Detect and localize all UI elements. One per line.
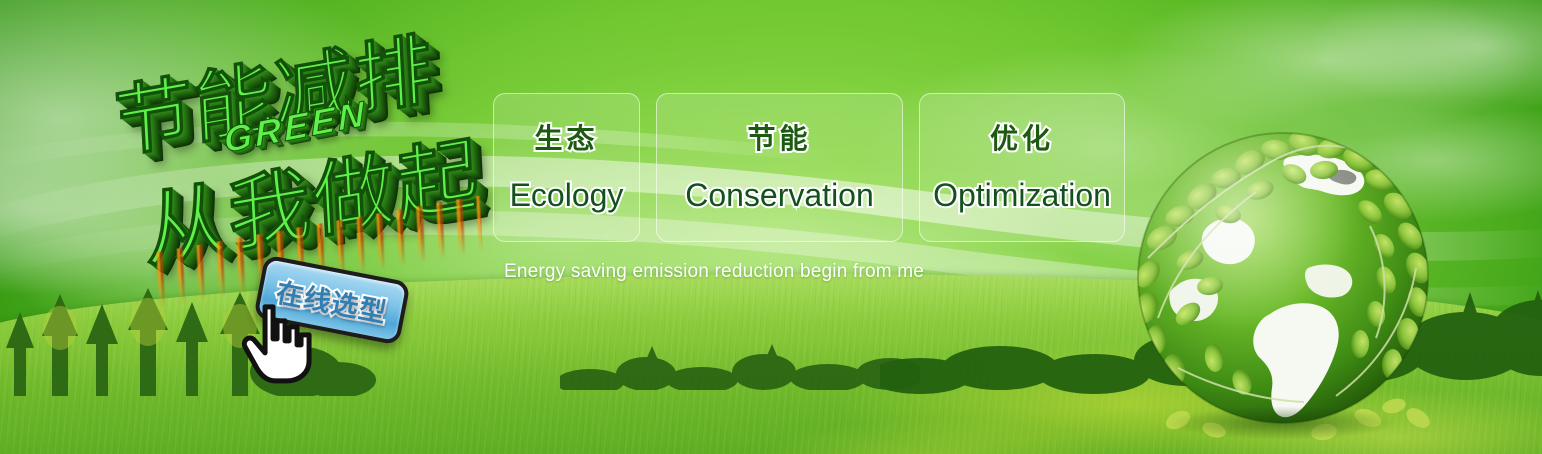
globe-ground-shadow <box>1124 400 1442 446</box>
feature-card-cn-label: 优化 <box>990 125 1054 153</box>
feature-card-en-label: Optimization <box>933 179 1111 211</box>
feature-card-ecology[interactable]: 生态 Ecology <box>493 93 640 242</box>
leafy-earth-globe-icon <box>1118 118 1448 448</box>
feature-card-en-label: Conservation <box>685 179 874 211</box>
feature-card-en-label: Ecology <box>510 179 624 211</box>
feature-card-conservation[interactable]: 节能 Conservation <box>656 93 903 242</box>
online-selection-button-label: 在线选型 <box>273 270 390 330</box>
globe-graphic <box>1118 118 1448 448</box>
headline-artwork: 节能减排 GREEN 从我做起 <box>96 28 506 278</box>
banner-tagline: Energy saving emission reduction begin f… <box>504 261 924 283</box>
feature-card-list: 生态 Ecology 节能 Conservation 优化 Optimizati… <box>493 93 1125 242</box>
feature-card-optimization[interactable]: 优化 Optimization <box>919 93 1125 242</box>
feature-card-cn-label: 生态 <box>534 125 598 153</box>
eco-hero-banner: 节能减排 GREEN 从我做起 在线选型 生态 Ecology 节能 Conse… <box>0 0 1542 454</box>
feature-card-cn-label: 节能 <box>747 125 811 153</box>
